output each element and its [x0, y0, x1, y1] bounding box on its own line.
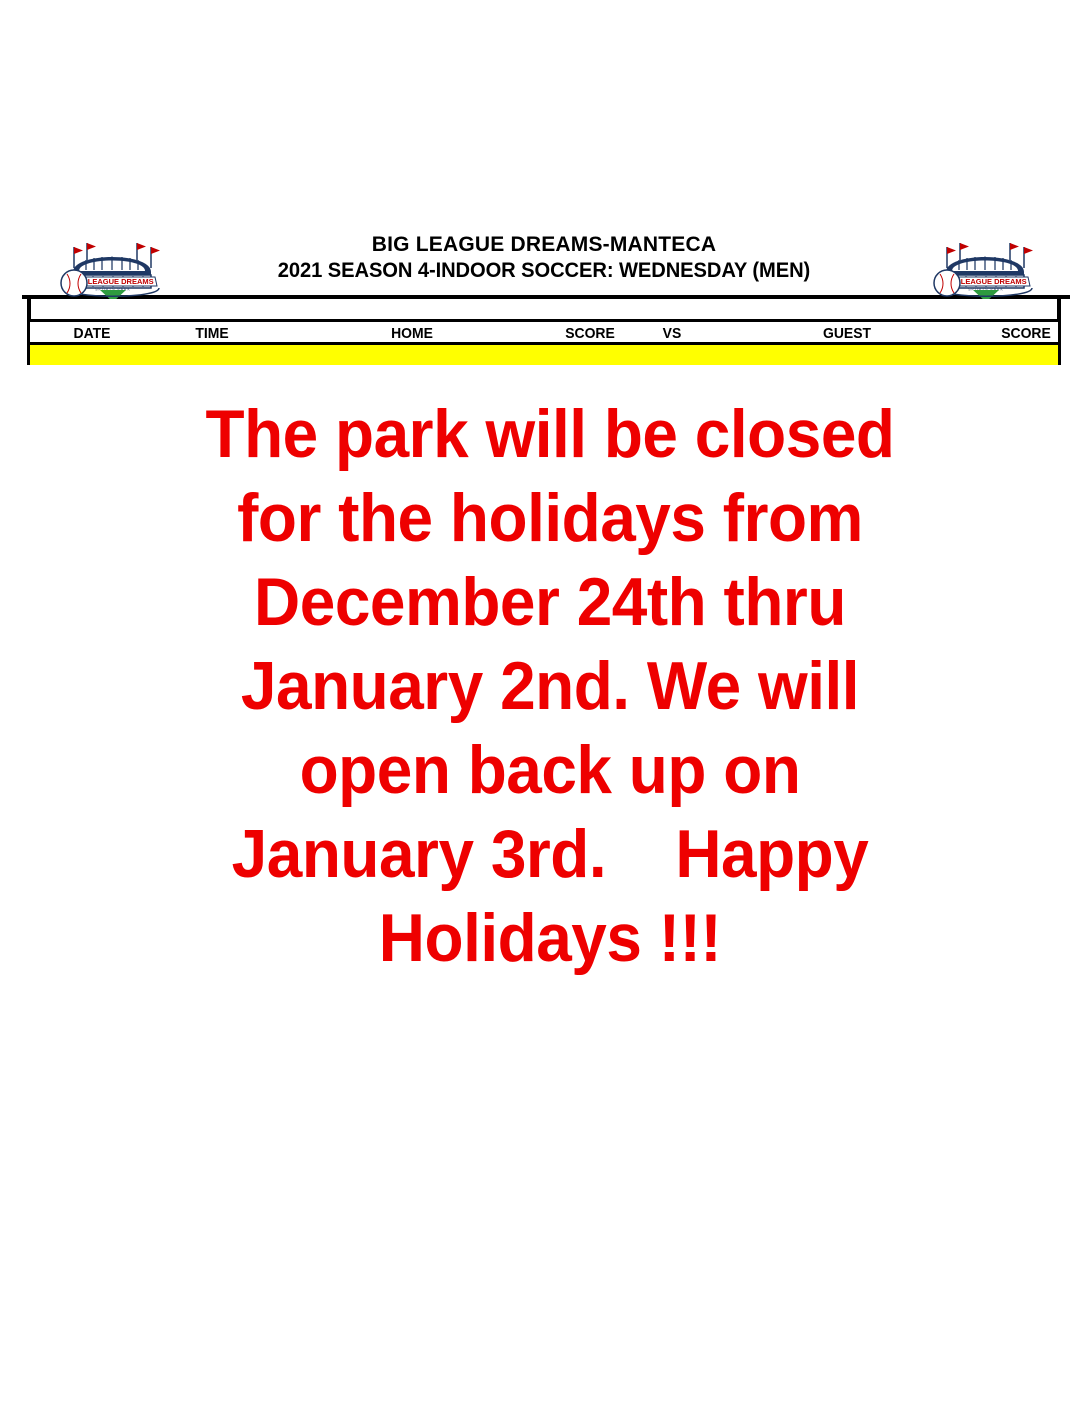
column-header-home-score: SCORE — [539, 324, 641, 343]
notice-line: Holidays !!! — [174, 896, 926, 980]
notice-line: The park will be closed — [174, 392, 926, 476]
table-highlight-band — [27, 345, 1061, 365]
table-column-header-row: DATE TIME HOME SCORE VS GUEST SCORE — [27, 319, 1061, 345]
table-spacer-row — [27, 299, 1061, 319]
page-subtitle: 2021 SEASON 4-INDOOR SOCCER: WEDNESDAY (… — [22, 258, 1066, 284]
big-league-dreams-logo: BIG LEAGUE DREAMS SPORTS PARK — [57, 240, 167, 302]
notice-line: December 24th thru — [174, 560, 926, 644]
notice-line: open back up on — [174, 728, 926, 812]
notice-line: January 3rd. Happy — [174, 812, 926, 896]
schedule-table: DATE TIME HOME SCORE VS GUEST SCORE — [27, 299, 1061, 365]
notice-line: for the holidays from — [174, 476, 926, 560]
column-header-vs: VS — [644, 324, 700, 343]
notice-line: January 2nd. We will — [174, 644, 926, 728]
closure-notice: The park will be closed for the holidays… — [150, 392, 950, 980]
column-header-guest-score: SCORE — [975, 324, 1077, 343]
big-league-dreams-logo: BIG LEAGUE DREAMS SPORTS PARK — [930, 240, 1040, 302]
column-header-home: HOME — [338, 324, 487, 343]
column-header-date: DATE — [41, 324, 143, 343]
column-header-guest: GUEST — [773, 324, 922, 343]
column-header-time: TIME — [161, 324, 263, 343]
